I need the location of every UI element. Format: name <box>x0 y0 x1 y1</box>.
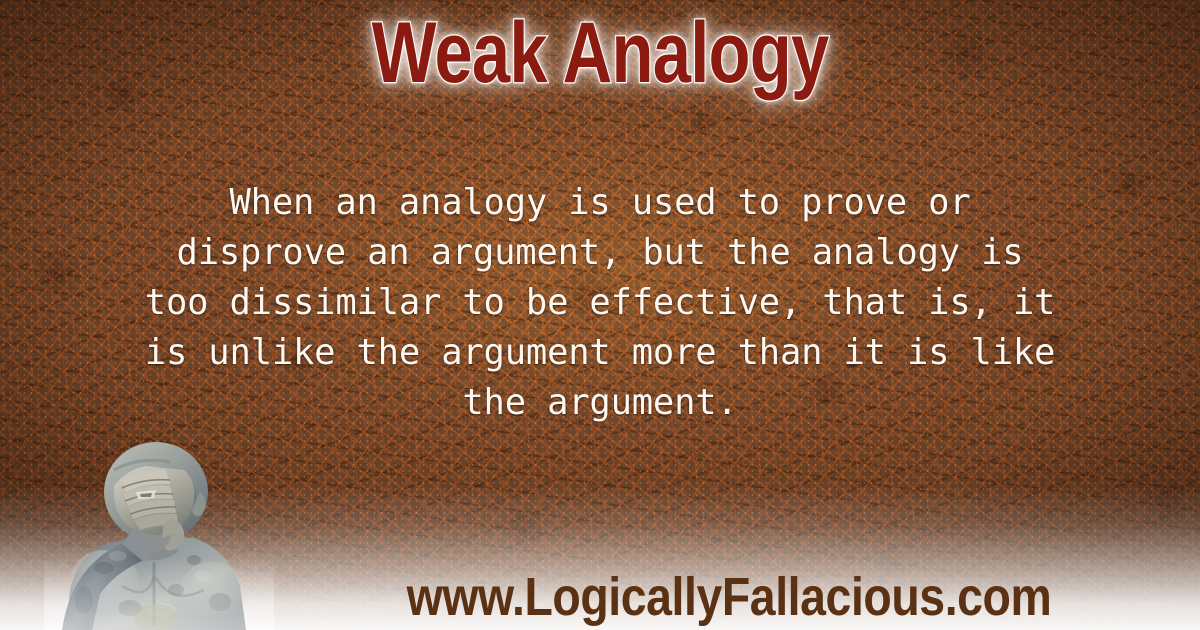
definition-line-1: When an analogy is used to prove or <box>26 178 1174 228</box>
definition-line-4: is unlike the argument more than it is l… <box>26 328 1174 378</box>
definition-line-3: too dissimilar to be effective, that is,… <box>26 278 1174 328</box>
fallacy-title: Weak Analogy <box>120 8 1080 98</box>
definition-line-2: disprove an argument, but the analogy is <box>26 228 1174 278</box>
definition-line-5: the argument. <box>26 378 1174 428</box>
website-url[interactable]: www.LogicallyFallacious.com <box>84 570 1116 624</box>
fallacy-definition: When an analogy is used to prove or disp… <box>26 178 1174 428</box>
fallacy-meme-card: Weak Analogy When an analogy is used to … <box>0 0 1200 630</box>
